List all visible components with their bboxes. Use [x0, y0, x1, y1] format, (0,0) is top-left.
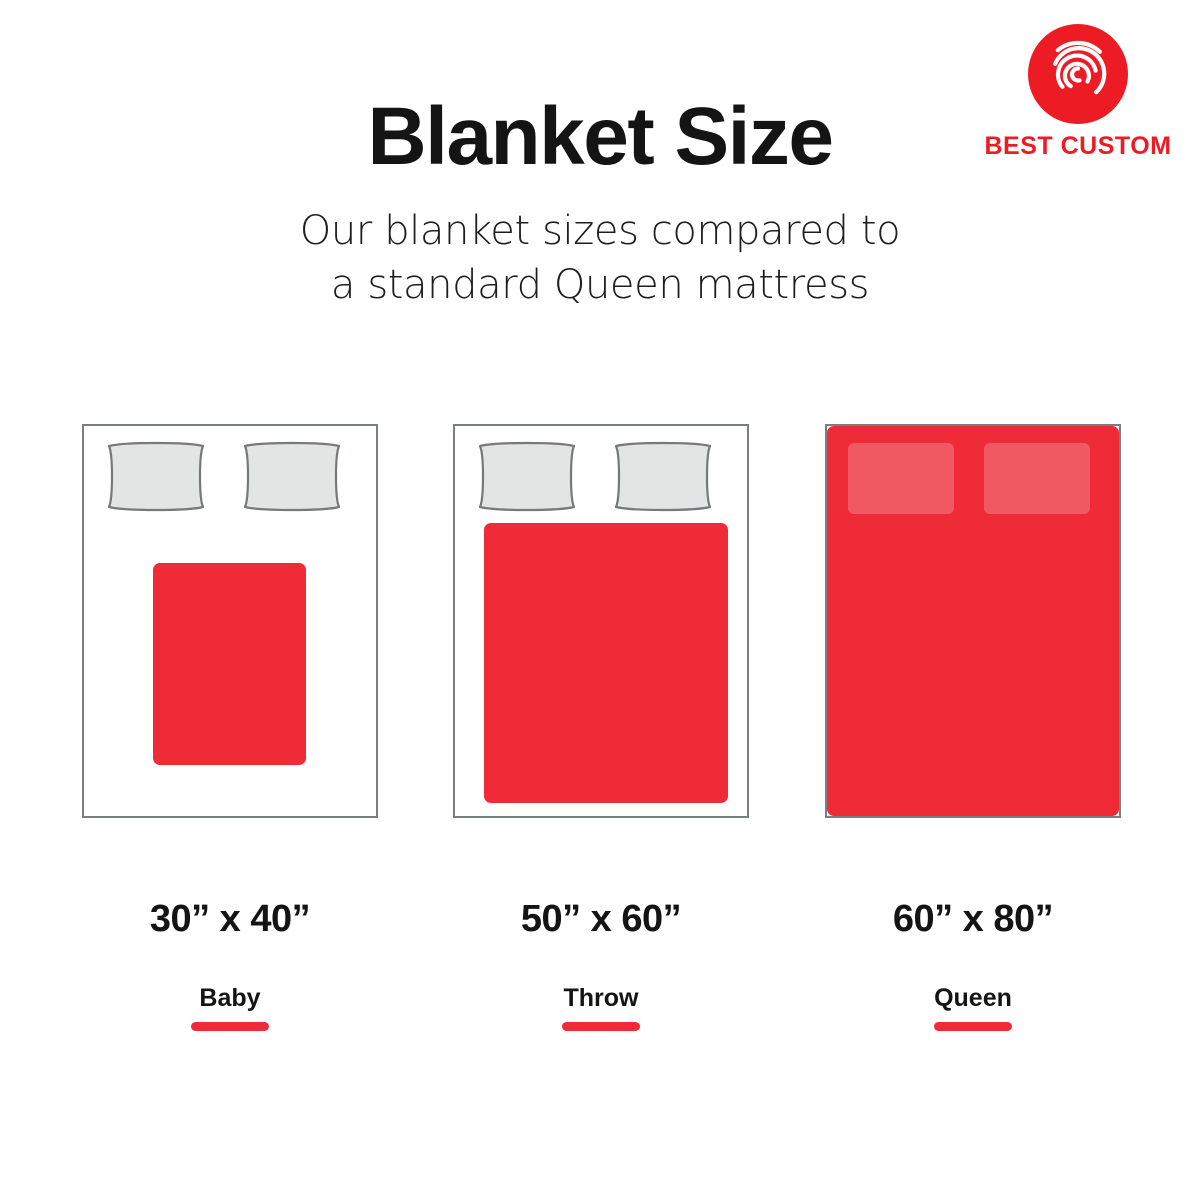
size-label-baby: 30” x 40” Baby [82, 900, 378, 1031]
dimension-text: 60” x 80” [825, 900, 1121, 938]
bed-diagram-row [0, 424, 1200, 824]
pillow-left [848, 443, 954, 514]
page-title: Blanket Size [0, 96, 1200, 178]
header-block: Blanket Size Our blanket sizes compared … [0, 96, 1200, 312]
size-label-row: 30” x 40” Baby 50” x 60” Throw 60” x 80”… [0, 900, 1200, 1050]
size-name: Throw [453, 986, 749, 1011]
dimension-text: 50” x 60” [453, 900, 749, 938]
pillow-left [103, 441, 209, 512]
page-subtitle-line-1: Our blanket sizes compared to [0, 204, 1200, 258]
page-subtitle: Our blanket sizes compared to a standard… [0, 204, 1200, 312]
page-subtitle-line-2: a standard Queen mattress [0, 258, 1200, 312]
pillow-right [239, 441, 345, 512]
blanket-baby [153, 563, 306, 765]
pillow-left [474, 441, 580, 512]
size-name: Baby [82, 986, 378, 1011]
accent-underline-bar [191, 1022, 269, 1031]
size-label-throw: 50” x 60” Throw [453, 900, 749, 1031]
accent-underline-bar [562, 1022, 640, 1031]
bed-diagram-baby [82, 424, 378, 818]
size-name: Queen [825, 986, 1121, 1011]
size-label-queen: 60” x 80” Queen [825, 900, 1121, 1031]
bed-diagram-queen [825, 424, 1121, 818]
blanket-queen [827, 426, 1119, 816]
dimension-text: 30” x 40” [82, 900, 378, 938]
accent-underline-bar [934, 1022, 1012, 1031]
pillow-right [610, 441, 716, 512]
pillow-right [984, 443, 1090, 514]
bed-diagram-throw [453, 424, 749, 818]
blanket-throw [484, 523, 728, 803]
